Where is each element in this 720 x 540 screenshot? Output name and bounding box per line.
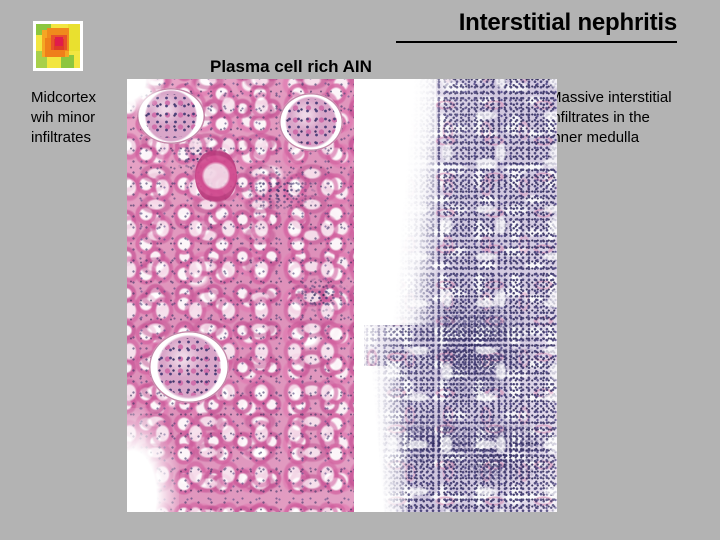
caption-left-line-3: infiltrates — [31, 128, 131, 148]
histology-panel-cortex — [127, 79, 358, 512]
logo-canvas — [36, 24, 80, 68]
nested-squares-logo — [33, 21, 83, 71]
title-underline-rule — [396, 41, 677, 43]
panel-seam-divider — [354, 79, 364, 512]
arteriole-cross-section — [195, 149, 237, 203]
caption-left: Midcortex wih minor infiltrates — [31, 88, 131, 148]
caption-right: Massive interstitial infiltrates in the … — [549, 88, 717, 148]
glomerulus-lower-left — [149, 331, 229, 403]
caption-left-line-2: wih minor — [31, 108, 131, 128]
logo-square-yellow-right — [68, 24, 80, 51]
caption-right-line-2: infiltrates in the — [549, 108, 717, 128]
caption-left-line-1: Midcortex — [31, 88, 131, 108]
cortex-edge-white-bottom — [127, 408, 179, 512]
logo-square-crimson-center — [55, 37, 63, 46]
slide-subtitle: Plasma cell rich AIN — [210, 57, 372, 77]
histology-panel-medulla — [358, 79, 557, 512]
caption-right-line-3: inner medulla — [549, 128, 717, 148]
cortex-edge-white-top — [127, 79, 161, 117]
slide-title: Interstitial nephritis — [459, 9, 677, 37]
glomerulus-upper-right — [279, 93, 343, 151]
slide-canvas: Interstitial nephritis Plasma cell rich … — [0, 0, 720, 540]
kidney-biopsy-photomicrograph — [127, 79, 557, 512]
caption-right-line-1: Massive interstitial — [549, 88, 717, 108]
medulla-white-zone-upper — [358, 79, 436, 325]
medulla-white-zone-lower — [358, 366, 406, 512]
